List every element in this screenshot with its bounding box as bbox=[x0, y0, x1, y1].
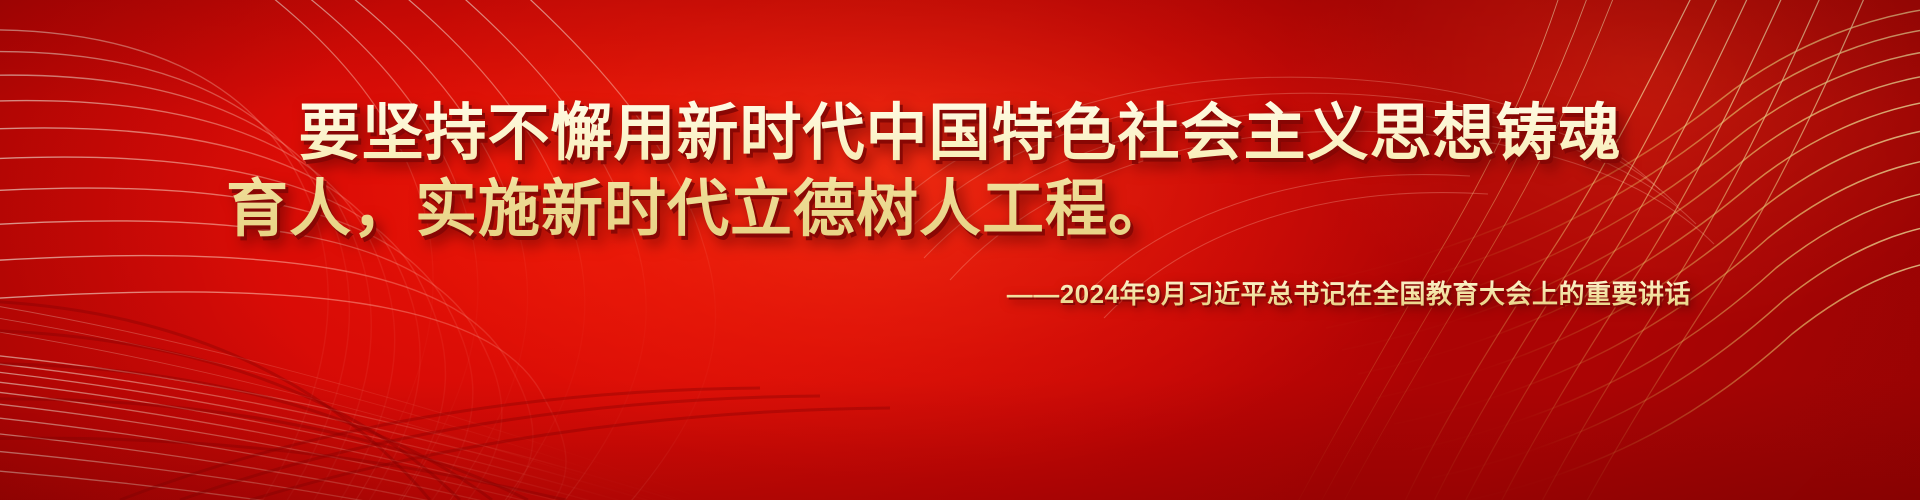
headline-line-1: 要坚持不懈用新时代中国特色社会主义思想铸魂 bbox=[210, 96, 1710, 172]
headline: 要坚持不懈用新时代中国特色社会主义思想铸魂 育人，实施新时代立德树人工程。 bbox=[210, 96, 1710, 248]
attribution-source: ——2024年9月习近平总书记在全国教育大会上的重要讲话 bbox=[191, 274, 1729, 311]
banner-content: 要坚持不懈用新时代中国特色社会主义思想铸魂 育人，实施新时代立德树人工程。 ——… bbox=[0, 0, 1920, 500]
banner-root: 要坚持不懈用新时代中国特色社会主义思想铸魂 育人，实施新时代立德树人工程。 ——… bbox=[0, 0, 1920, 500]
headline-line-2: 育人，实施新时代立德树人工程。 bbox=[210, 172, 1710, 248]
